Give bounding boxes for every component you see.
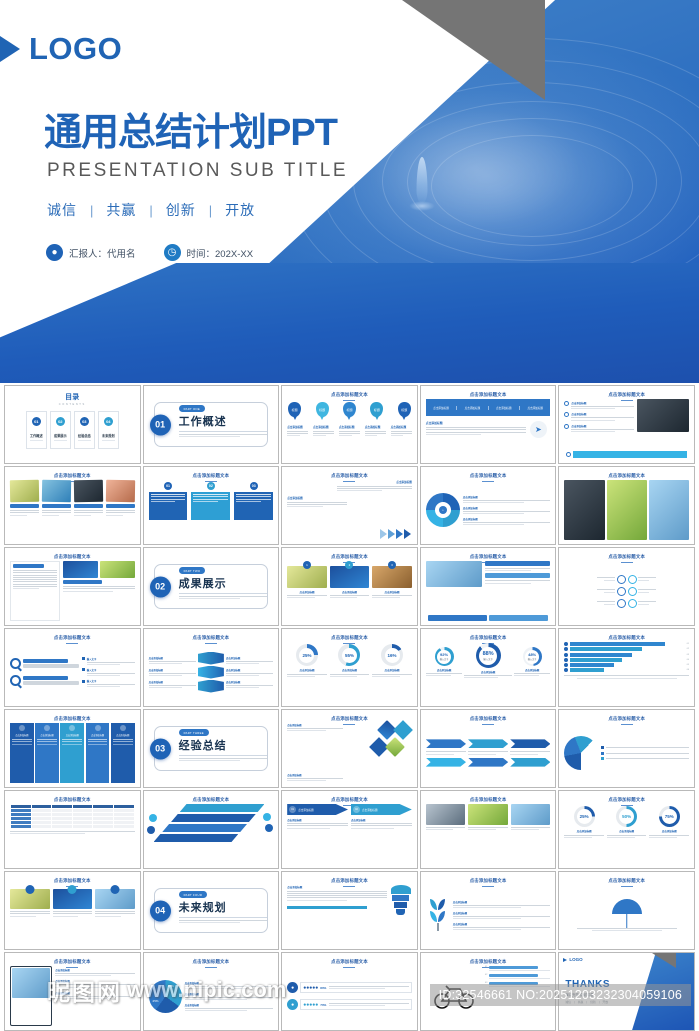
step-number: 03: [250, 482, 258, 490]
donut-value: 25%: [580, 814, 589, 819]
donut-label: 点击添加标题: [662, 829, 677, 833]
slide-title: 点击添加标题文本: [10, 878, 135, 884]
donut-label: 点击添加标题: [342, 668, 357, 672]
list-item: 输入文字: [82, 657, 134, 665]
people-value: 70%: [320, 1003, 326, 1007]
donut-item: 75% 点击添加标题: [649, 806, 689, 864]
item-label: 点击添加标题: [391, 425, 412, 429]
section-number: 01: [150, 414, 171, 435]
node-item: [628, 587, 689, 596]
thumbnail-bowtie-diagram[interactable]: 点击添加标题文本 点击添加标题 点击添加标题 点击添加标题 点击添加标题 点击添…: [143, 628, 280, 707]
item-label: 点击添加标题: [571, 401, 633, 405]
donut-item: 25% 点击添加标题: [564, 806, 604, 864]
balloon-icon: 标题: [316, 402, 329, 417]
donut-caption: 输入文字: [528, 657, 537, 661]
photo-placeholder: [649, 480, 689, 540]
thumbnail-section-01[interactable]: 01 PART ONE 工作概述: [143, 385, 280, 464]
section-name: 经验总结: [179, 737, 227, 753]
item-label: 点击添加标题: [287, 818, 348, 822]
tab-item[interactable]: 点击添加标题: [489, 406, 520, 410]
thumbnail-arrows-text[interactable]: 点击添加标题文本 点击添加标题 点击添加标题: [281, 466, 418, 545]
thumbnail-tablet-device[interactable]: 点击添加标题文本 点击添加标题 点击添加标题 点击添加标题: [4, 952, 141, 1031]
home-icon: ⌂: [439, 506, 447, 514]
people-value: 80%: [320, 986, 326, 990]
thumbnail-thanks[interactable]: LOGO THANKS 演讲完毕 感谢观看 诚信 | 共赢 | 创新 | 开放: [558, 952, 695, 1031]
item-label: 点击添加标题: [453, 911, 551, 915]
thumbnail-hbar-chart[interactable]: 点击添加标题文本 01 02 03 04 05 06: [558, 628, 695, 707]
contents-number: 02: [56, 417, 65, 426]
contents-heading: 目录: [10, 392, 135, 402]
item-label: 点击添加标题: [426, 421, 527, 425]
photo-placeholder: [12, 968, 50, 998]
item-label: 点击添加标题: [351, 818, 412, 822]
thumbnail-text-photo-mix[interactable]: 点击添加标题文本: [4, 547, 141, 626]
slide-title: 点击添加标题文本: [287, 797, 412, 803]
thumbnail-tabs-rocket[interactable]: 点击添加标题文本 点击添加标题 点击添加标题 点击添加标题 点击添加标题 点击添…: [420, 385, 557, 464]
slide-title: 点击添加标题文本: [287, 554, 412, 560]
page-title: 通用总结计划PPT: [44, 101, 337, 156]
donut-item: 48%输入文字 点击添加标题: [514, 643, 551, 676]
date-text: 时间：202X-XX: [187, 246, 254, 260]
slide-title: 点击添加标题文本: [426, 392, 551, 398]
list-item: 点击添加标题: [564, 401, 633, 409]
thumbnail-donuts-big[interactable]: 点击添加标题文本 92%输入文字 点击添加标题 88%输入文字 点击添加标题 4…: [420, 628, 557, 707]
thumbnail-grid-area: 目录 CONTENTS 01 工作概述 02 成果展示 03 经验总结 04 未…: [0, 383, 699, 1024]
list-item: 点击添加标题: [149, 680, 196, 688]
item-label: 点击添加标题: [463, 506, 551, 510]
donut-value: 16%: [388, 653, 397, 658]
badge-icon: [68, 885, 77, 894]
donut-chart: 75%: [659, 806, 680, 827]
donut-chart: 55%: [338, 644, 360, 666]
photo-placeholder: [330, 566, 370, 588]
donut-item: 92%输入文字 点击添加标题: [426, 643, 463, 676]
diamond-photo: [385, 737, 405, 757]
thumbnail-arrow-pair[interactable]: 点击添加标题文本 01点击添加标题 点击添加标题 02点击添加标题 点击添加标题: [281, 790, 418, 869]
slide-title: 点击添加标题文本: [149, 797, 274, 803]
donut-label: 点击添加标题: [385, 668, 400, 672]
person-icon: ●: [46, 244, 63, 261]
donut-caption: 输入文字: [440, 657, 449, 661]
list-item: 点击添加标题: [149, 668, 196, 676]
section-name: 工作概述: [179, 413, 227, 429]
column-label: 点击添加标题: [66, 733, 79, 737]
hbar-value: 05: [687, 664, 689, 666]
thumbnail-section-03[interactable]: 03 PART THREE 经验总结: [143, 709, 280, 788]
item-label: 点击添加标题: [287, 773, 343, 777]
slide-title: 点击添加标题文本: [564, 635, 689, 641]
donut-label: 点击添加标题: [525, 668, 539, 672]
donut-item: 16% 点击添加标题: [372, 644, 412, 702]
bowtie-chart: [198, 652, 224, 693]
column-label: 点击添加标题: [15, 733, 28, 737]
list-item: 点击添加标题: [55, 968, 134, 976]
umbrella-icon: [612, 899, 642, 914]
list-item: 输入文字: [82, 668, 134, 676]
timeline-item: 01: [485, 966, 551, 971]
thumbnail-photo-badges[interactable]: 点击添加标题文本 1点击添加标题 2点击添加标题 3点击添加标题: [281, 547, 418, 626]
logo-triangle-icon: [563, 958, 567, 962]
thumbnail-donuts-3[interactable]: 点击添加标题文本 25% 点击添加标题 55% 点击添加标题 16% 点击添加标…: [281, 628, 418, 707]
slide-title: 点击添加标题文本: [564, 878, 689, 884]
hbar-value: 02: [687, 648, 689, 650]
donut-chart: 48%输入文字: [523, 647, 542, 666]
photo-placeholder: [10, 480, 39, 503]
thumbnail-fan-diagram[interactable]: 点击添加标题文本 ⌂ 点击添加标题 点击添加标题 点击添加标题: [420, 466, 557, 545]
person-icon: ●: [287, 982, 298, 993]
thumbnail-donuts-255075[interactable]: 点击添加标题文本 25% 点击添加标题 50% 点击添加标题 75% 点击添加标…: [558, 790, 695, 869]
item-label: 点击添加标题: [149, 680, 196, 684]
pie-chart: 35% 25%: [149, 980, 182, 1013]
hero-gray-triangle: [402, 0, 545, 100]
thanks-footer-word: 开放: [602, 1000, 608, 1004]
fan-chart: ⌂: [426, 493, 460, 527]
logo: LOGO: [3, 31, 122, 67]
thumbnail-balloons[interactable]: 点击添加标题文本 标题 标题 标题 标题 标题 点击添加标题 点击添加标题 点击…: [281, 385, 418, 464]
donut-chart: 92%输入文字: [435, 647, 454, 666]
list-item: 输入文字: [82, 679, 134, 687]
section-desc: [179, 434, 267, 437]
badge-icon: [265, 824, 273, 832]
section-name: 未来规划: [179, 899, 227, 915]
slide-title: 点击添加标题文本: [287, 716, 412, 722]
pie-value: 25%: [153, 999, 159, 1003]
bulb-diagram: [390, 885, 412, 945]
slogan-word-4: 开放: [212, 200, 268, 220]
timeline-item: 03: [485, 982, 551, 987]
item-label: 点击添加标题: [365, 425, 386, 429]
logo-text: LOGO: [569, 957, 582, 962]
list-item: 点击添加标题: [226, 680, 273, 688]
rocket-icon: ➤: [530, 421, 547, 438]
legend-item: [601, 746, 689, 749]
tab-item[interactable]: 点击添加标题: [457, 406, 488, 410]
slide-title: 点击添加标题文本: [426, 635, 551, 641]
thumbnail-bicycle-timeline[interactable]: 点击添加标题文本 01 02 03: [420, 952, 557, 1031]
slogan-word-2: 共赢: [93, 200, 149, 220]
ribbon-bar: [180, 804, 265, 812]
photo-placeholder: [74, 480, 103, 503]
item-label: 点击添加标题: [463, 495, 551, 499]
legend-item: 点击添加标题: [185, 1003, 274, 1011]
contents-card[interactable]: 02 成果展示: [50, 411, 71, 449]
item-label: 点击添加标题: [149, 668, 196, 672]
slide-title: 点击添加标题文本: [426, 878, 551, 884]
badge-icon: [147, 826, 155, 834]
list-item: 点击添加标题: [453, 900, 551, 908]
donut-chart: 16%: [381, 644, 403, 666]
thumbnail-data-table[interactable]: 点击添加标题文本: [4, 790, 141, 869]
contents-card[interactable]: 03 经验总结: [74, 411, 95, 449]
item-label: 点击添加标题: [287, 496, 412, 500]
list-item: 点击添加标题: [55, 979, 134, 987]
column-label: 点击添加标题: [41, 733, 54, 737]
list-item: 点击添加标题: [226, 668, 273, 676]
hbar-value: 03: [687, 654, 689, 656]
timeline-item: 02: [485, 974, 551, 979]
section-rule: [179, 431, 267, 432]
thanks-word: THANKS: [565, 979, 610, 990]
photo-placeholder: [106, 480, 135, 503]
slide-title: 点击添加标题文本: [426, 554, 551, 560]
photo-placeholder: [42, 480, 71, 503]
list-item: 点击添加标题: [564, 424, 633, 432]
node-item: [597, 587, 626, 596]
data-table: [10, 804, 135, 829]
item-label: 点击添加标题: [463, 517, 551, 521]
hbar-value: 04: [687, 659, 689, 661]
donut-item: 88%输入文字 点击添加标题: [464, 643, 512, 678]
badge-icon: [263, 813, 271, 821]
tab-item[interactable]: 点击添加标题: [426, 406, 457, 410]
list-item: 点击添加标题: [55, 991, 134, 999]
thumbnail-photo-grid[interactable]: 点击添加标题文本: [558, 466, 695, 545]
donut-item: 25% 点击添加标题: [287, 644, 327, 702]
thanks-footer-word: 共赢: [578, 1000, 584, 1004]
item-label: 点击添加标题: [287, 590, 327, 594]
thumbnail-section-02[interactable]: 02 PART TWO 成果展示: [143, 547, 280, 626]
item-label: 点击添加标题: [372, 590, 412, 594]
contents-label: 工作概述: [30, 433, 43, 438]
contents-label: 经验总结: [78, 433, 91, 438]
section-desc: [179, 920, 267, 923]
badge-icon: [149, 814, 157, 822]
diamond-tile: [393, 720, 413, 740]
photo-placeholder: [468, 804, 508, 825]
section-tag: PART THREE: [179, 729, 209, 736]
donut-value: 75%: [665, 814, 674, 819]
donut-item: 55% 点击添加标题: [330, 644, 370, 702]
ribbon-bar: [171, 814, 256, 822]
item-label: 输入文字: [87, 657, 135, 661]
slide-title: 点击添加标题文本: [564, 797, 689, 803]
badge-number: 3: [388, 561, 396, 569]
column-label: 点击添加标题: [91, 733, 104, 737]
donut-chart: 25%: [574, 806, 595, 827]
section-desc: [179, 596, 267, 599]
thanks-blue-shape: [632, 953, 694, 1030]
slide-title: 点击添加标题文本: [287, 473, 412, 479]
thumbnail-five-columns[interactable]: 点击添加标题文本 点击添加标题 点击添加标题 点击添加标题 点击添加标题 点击添…: [4, 709, 141, 788]
thanks-footer-word: 诚信: [565, 1000, 571, 1004]
slide-title: 点击添加标题文本: [564, 716, 689, 722]
item-label: 点击添加标题: [185, 1003, 274, 1007]
hero-slide: LOGO 通用总结计划PPT PRESENTATION SUB TITLE 诚信…: [0, 0, 699, 383]
legend-item: [601, 757, 689, 760]
arc-chart: [564, 736, 598, 770]
thumbnail-people-bars[interactable]: 点击添加标题文本 ● ●●●●● 80% ● ●●●●● 70%: [281, 952, 418, 1031]
donut-label: 点击添加标题: [577, 829, 592, 833]
donut-value: 50%: [622, 814, 631, 819]
item-label: 点击添加标题: [571, 424, 633, 428]
item-label: 点击添加标题: [226, 668, 273, 672]
slide-title: 点击添加标题文本: [10, 959, 135, 965]
node-item: [628, 575, 689, 584]
logo-triangle-icon: [0, 36, 20, 62]
slide-title: 点击添加标题文本: [10, 635, 135, 641]
step-number: 02: [207, 482, 215, 490]
thumbnail-chevron-flow[interactable]: 点击添加标题文本: [420, 709, 557, 788]
date-meta: ◷ 时间：202X-XX: [164, 244, 254, 261]
slide-title: 点击添加标题文本: [426, 797, 551, 803]
clock-icon: ◷: [164, 244, 181, 261]
item-label: 点击添加标题: [287, 885, 387, 889]
thanks-sub: 演讲完毕 感谢观看: [565, 992, 610, 997]
photo-placeholder: [372, 566, 412, 588]
section-number: 04: [150, 900, 171, 921]
magnifier-icon: [10, 675, 21, 686]
section-number: 03: [150, 738, 171, 759]
thanks-footer-sep: |: [574, 1000, 575, 1004]
slide-title: 点击添加标题文本: [10, 797, 135, 803]
thumbnail-leaf-tree[interactable]: 点击添加标题文本 点击添加标题 点击添加标题 点击添加标题: [420, 871, 557, 950]
step-number: 02: [353, 806, 360, 813]
arrow-label: 点击添加标题: [362, 808, 378, 812]
slide-title: 点击添加标题文本: [10, 473, 135, 479]
thanks-footer-sep: |: [599, 1000, 600, 1004]
photo-placeholder: [607, 480, 647, 540]
thumbnail-umbrella[interactable]: 点击添加标题文本: [558, 871, 695, 950]
badge-number: 2: [345, 561, 353, 569]
legend-item: [601, 752, 689, 755]
hero-bottom-band: [0, 263, 699, 383]
thumbnail-diamonds[interactable]: 点击添加标题文本 点击添加标题 点击添加标题: [281, 709, 418, 788]
slide-title: 点击添加标题文本: [149, 959, 274, 965]
thumbnail-three-cards[interactable]: 点击添加标题文本 01 02 03: [143, 466, 280, 545]
people-row: ● ●●●●● 80%: [287, 982, 412, 993]
leaf-diagram: [426, 899, 450, 931]
thumbnail-photo-cards-3[interactable]: 点击添加标题文本: [420, 790, 557, 869]
donut-chart: 88%输入文字: [476, 643, 501, 668]
list-item: 点击添加标题: [149, 656, 196, 664]
thumbnail-ribbons[interactable]: 点击添加标题文本: [143, 790, 280, 869]
item-label: 点击添加标题: [453, 922, 551, 926]
slide-title: 点击添加标题文本: [149, 635, 274, 641]
contents-label: 成果展示: [54, 433, 67, 438]
section-tag: PART TWO: [179, 567, 206, 574]
contents-label: 未来规划: [102, 433, 115, 438]
section-rule: [179, 755, 267, 756]
pie-value: 35%: [168, 984, 174, 988]
bicycle-icon: [433, 983, 475, 1009]
tab-item[interactable]: 点击添加标题: [520, 406, 550, 410]
list-item: 点击添加标题: [453, 911, 551, 919]
contents-number: 03: [80, 417, 89, 426]
item-label: 点击添加标题: [287, 480, 412, 484]
badge-number: 1: [303, 561, 311, 569]
item-label: 点击添加标题: [339, 425, 360, 429]
item-label: 点击添加标题: [330, 590, 370, 594]
photo-placeholder: [287, 566, 327, 588]
donut-label: 点击添加标题: [481, 670, 495, 674]
item-label: 点击添加标题: [287, 425, 308, 429]
thanks-footer-sep: |: [586, 1000, 587, 1004]
thumbnail-photo-bullets[interactable]: 点击添加标题文本: [420, 547, 557, 626]
ribbon-bar: [154, 834, 239, 842]
thumbnail-list-photo[interactable]: 点击添加标题文本 点击添加标题 点击添加标题 点击添加标题: [558, 385, 695, 464]
legend-item: 点击添加标题: [185, 992, 274, 1000]
list-item: 点击添加标题: [463, 495, 551, 503]
presenter-text: 汇报人：代用名: [69, 246, 136, 260]
node-item: [597, 575, 626, 584]
item-label: 点击添加标题: [185, 992, 274, 996]
thumbnail-contents[interactable]: 目录 CONTENTS 01 工作概述 02 成果展示 03 经验总结 04 未…: [4, 385, 141, 464]
thumbnail-bulb-layers[interactable]: 点击添加标题文本 点击添加标题: [281, 871, 418, 950]
photo-placeholder: [426, 561, 482, 587]
hbar-value: 06: [687, 669, 689, 671]
magnifier-row: [10, 675, 79, 686]
donut-chart: 50%: [616, 806, 637, 827]
people-row: ● ●●●●● 70%: [287, 999, 412, 1010]
hbar-value: 01: [687, 643, 689, 645]
list-item: 点击添加标题: [453, 922, 551, 930]
contents-card[interactable]: 01 工作概述: [26, 411, 47, 449]
step-number: 01: [164, 482, 172, 490]
item-label: 点击添加标题: [55, 979, 134, 983]
slide-title: 点击添加标题文本: [10, 716, 135, 722]
donut-value: 55%: [345, 653, 354, 658]
section-name: 成果展示: [179, 575, 227, 591]
photo-placeholder: [426, 804, 466, 825]
item-label: 点击添加标题: [226, 656, 273, 660]
donut-value: 25%: [302, 653, 311, 658]
slide-title: 点击添加标题文本: [564, 392, 689, 398]
slide-title: 点击添加标题文本: [426, 959, 551, 965]
slogan-row: 诚信 | 共赢 | 创新 | 开放: [47, 200, 268, 220]
section-tag: PART ONE: [179, 405, 205, 412]
magnifier-row: [10, 658, 79, 669]
slide-title: 点击添加标题文本: [149, 473, 274, 479]
balloon-icon: 标题: [398, 402, 411, 417]
thumbnail-pie-chart[interactable]: 点击添加标题文本 35% 25% 点击添加标题 点击添加标题 点击添加标题: [143, 952, 280, 1031]
thumbnail-photo-badge-3[interactable]: 点击添加标题文本: [4, 871, 141, 950]
presenter-meta: ● 汇报人：代用名: [46, 244, 136, 261]
section-number: 02: [150, 576, 171, 597]
node-item: [597, 599, 626, 608]
list-item: 点击添加标题: [463, 506, 551, 514]
ribbon-bar: [162, 824, 247, 832]
thumbnail-circle-nodes[interactable]: 点击添加标题文本: [558, 547, 695, 626]
item-label: 点击添加标题: [149, 656, 196, 660]
slogan-word-1: 诚信: [47, 200, 90, 220]
photo-placeholder: [564, 480, 604, 540]
thumbnail-section-04[interactable]: 04 PART FOUR 未来规划: [143, 871, 280, 950]
donut-item: 50% 点击添加标题: [607, 806, 647, 864]
thumbnail-arc-chart[interactable]: 点击添加标题文本: [558, 709, 695, 788]
badge-icon: [25, 885, 34, 894]
thumbnail-magnifier-list[interactable]: 点击添加标题文本 输入文字 输入文字 输入文字: [4, 628, 141, 707]
column-label: 点击添加标题: [116, 733, 129, 737]
contents-card[interactable]: 04 未来规划: [98, 411, 119, 449]
item-label: 点击添加标题: [226, 680, 273, 684]
item-label: 输入文字: [87, 668, 135, 672]
item-label: 点击添加标题: [55, 968, 134, 972]
page-subtitle: PRESENTATION SUB TITLE: [47, 160, 348, 182]
section-tag: PART FOUR: [179, 891, 208, 898]
list-item: 点击添加标题: [564, 412, 633, 420]
donut-label: 点击添加标题: [619, 829, 634, 833]
magnifier-icon: [10, 658, 21, 669]
balloon-icon: 标题: [370, 402, 383, 417]
slide-title: 点击添加标题文本: [564, 473, 689, 479]
thanks-footer-word: 创新: [590, 1000, 596, 1004]
donut-caption: 输入文字: [483, 657, 493, 661]
person-icon: ●: [287, 999, 298, 1010]
thumbnail-four-photos[interactable]: 点击添加标题文本: [4, 466, 141, 545]
item-label: 点击添加标题: [185, 981, 274, 985]
slogan-word-3: 创新: [153, 200, 209, 220]
photo-placeholder: [63, 561, 98, 578]
